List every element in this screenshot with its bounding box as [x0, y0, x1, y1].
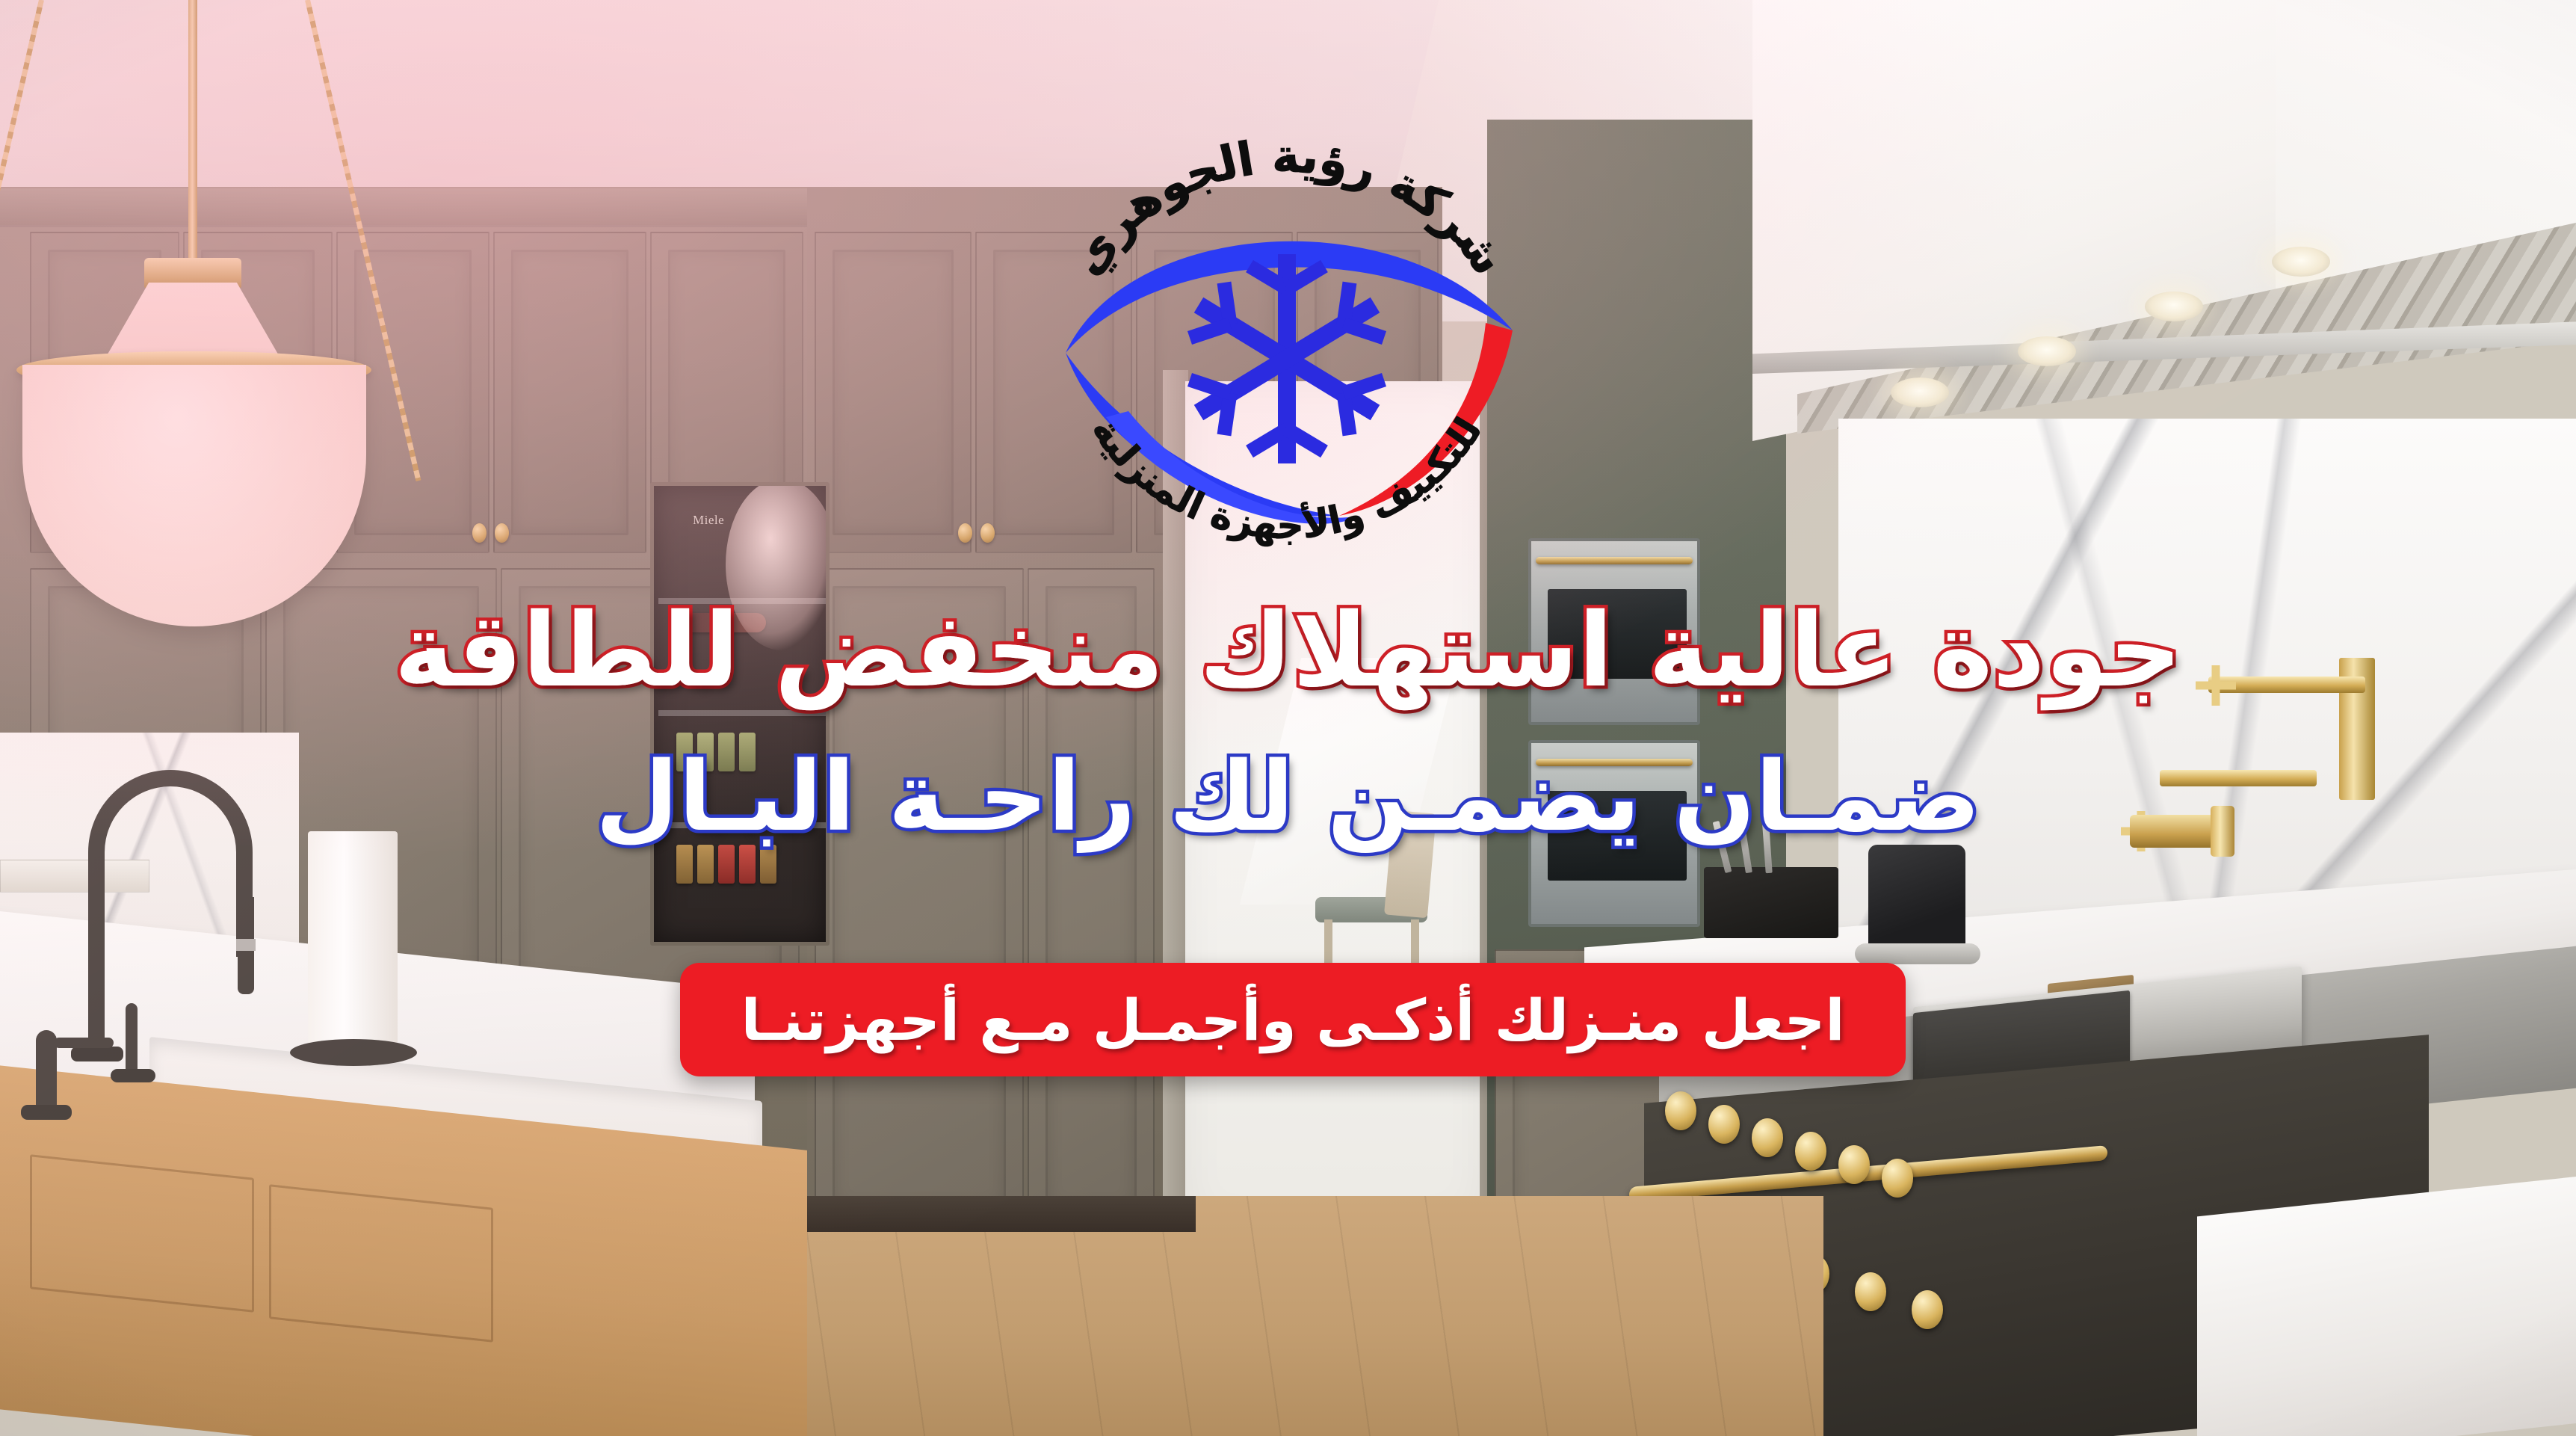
promo-banner: Miele — [0, 0, 2576, 1436]
headline-2-fill: ضمـان يضمـن لك راحـة البـال — [596, 748, 1980, 848]
headline-1-fill: جودة عالية استهلاك منخفض للطاقة — [394, 598, 2181, 705]
cta-button-label: اجعل منـزلك أذكـى وأجمـل مـع أجهزتنـا — [741, 987, 1845, 1053]
cta-button[interactable]: اجعل منـزلك أذكـى وأجمـل مـع أجهزتنـا — [680, 963, 1906, 1076]
headline-1-wrap: جودة عالية استهلاك منخفض للطاقة جودة عال… — [0, 598, 2576, 705]
company-logo[interactable]: شركة رؤية الجوهري للتكييف والأجهزة المنز… — [1016, 112, 1554, 576]
snowflake-icon — [1190, 254, 1384, 463]
headline-2-wrap: ضمـان يضمـن لك راحـة البـال ضمـان يضمـن … — [0, 748, 2576, 848]
promo-overlay: شركة رؤية الجوهري للتكييف والأجهزة المنز… — [0, 0, 2576, 1436]
headline-1: جودة عالية استهلاك منخفض للطاقة جودة عال… — [394, 598, 2181, 705]
headline-2: ضمـان يضمـن لك راحـة البـال ضمـان يضمـن … — [596, 748, 1980, 848]
